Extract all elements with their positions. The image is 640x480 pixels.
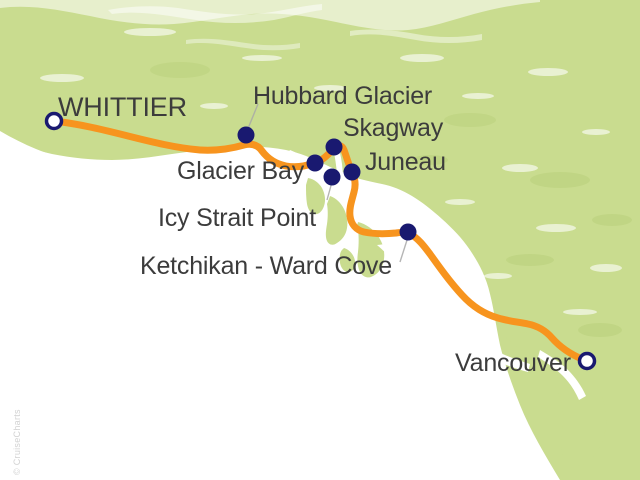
port-dot-hubbard-glacier[interactable] xyxy=(238,127,255,144)
copyright-notice: © CruiseCharts xyxy=(12,461,22,475)
port-dot-skagway[interactable] xyxy=(326,139,343,156)
port-label-skagway: Skagway xyxy=(343,116,443,141)
port-dot-ketchikan-ward-cove[interactable] xyxy=(400,224,417,241)
port-ring-vancouver[interactable] xyxy=(580,354,595,369)
port-dot-icy-strait-point[interactable] xyxy=(324,169,341,186)
cruise-route-map[interactable]: WHITTIER Hubbard Glacier Glacier Bay Ska… xyxy=(0,0,640,480)
port-label-juneau: Juneau xyxy=(365,150,446,175)
port-label-glacier-bay: Glacier Bay xyxy=(177,159,304,184)
map-canvas xyxy=(0,0,640,480)
port-label-vancouver: Vancouver xyxy=(455,351,571,376)
port-label-icy-strait-point: Icy Strait Point xyxy=(158,206,316,231)
port-label-ketchikan-ward-cove: Ketchikan - Ward Cove xyxy=(140,254,392,279)
port-dot-juneau[interactable] xyxy=(344,164,361,181)
port-dot-glacier-bay[interactable] xyxy=(307,155,324,172)
port-label-hubbard-glacier: Hubbard Glacier xyxy=(253,84,432,109)
port-label-whittier: WHITTIER xyxy=(58,94,187,121)
